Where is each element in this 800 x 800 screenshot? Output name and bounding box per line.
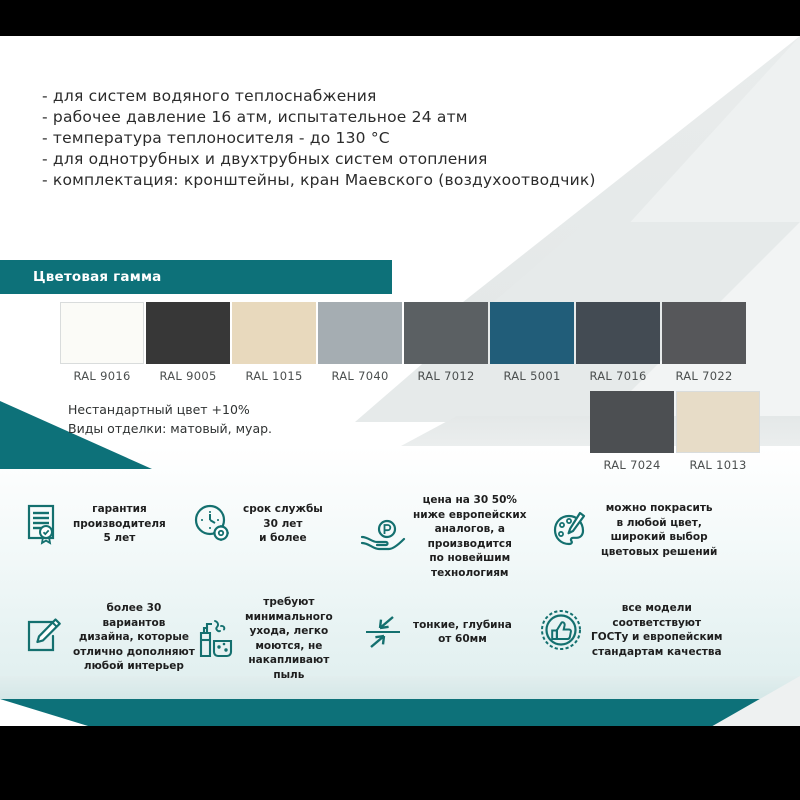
color-swatch[interactable]: RAL 9005	[146, 302, 230, 383]
feature-item-price: цена на 30 50% ниже европейских аналогов…	[360, 493, 550, 580]
feature-label: все модели соответствуют ГОСТу и европей…	[584, 601, 723, 659]
spec-line: - комплектация: кронштейны, кран Маевско…	[42, 170, 642, 191]
decorative-bottom-pale-strip	[0, 676, 800, 702]
note-line: Виды отделки: матовый, муар.	[68, 419, 272, 438]
color-swatch-code: RAL 9016	[60, 369, 144, 383]
feature-item-easy-clean: требуют минимального ухода, легко моются…	[192, 595, 372, 682]
palette-brush-icon	[548, 507, 594, 553]
spec-line: - температура теплоносителя - до 130 °C	[42, 128, 642, 149]
color-swatch-code: RAL 5001	[490, 369, 574, 383]
certificate-icon	[20, 501, 66, 547]
color-swatch-chip	[490, 302, 574, 364]
color-swatch[interactable]: RAL 7012	[404, 302, 488, 383]
color-swatch-chip	[146, 302, 230, 364]
finish-note: Нестандартный цвет +10% Виды отделки: ма…	[68, 400, 272, 438]
thin-arrows-icon	[360, 609, 406, 655]
color-swatch[interactable]: RAL 5001	[490, 302, 574, 383]
color-swatch-chip	[576, 302, 660, 364]
color-swatch-chip	[676, 391, 760, 453]
color-swatch-chip	[662, 302, 746, 364]
color-swatch-code: RAL 9005	[146, 369, 230, 383]
feature-item-certificate: гарантия производителя 5 лет	[20, 501, 200, 547]
color-swatch-chip	[318, 302, 402, 364]
feature-label: гарантия производителя 5 лет	[66, 502, 166, 546]
feature-item-paintable: можно покрасить в любой цвет, широкий вы…	[548, 501, 763, 559]
feature-item-standards: все модели соответствуют ГОСТу и европей…	[538, 601, 768, 659]
pencil-design-icon	[20, 614, 66, 660]
clock-gear-icon	[190, 501, 236, 547]
note-line: Нестандартный цвет +10%	[68, 400, 272, 419]
color-swatch[interactable]: RAL 7040	[318, 302, 402, 383]
feature-label: срок службы 30 лет и более	[236, 502, 323, 546]
feature-label: можно покрасить в любой цвет, широкий вы…	[594, 501, 717, 559]
spray-sponge-icon	[192, 616, 238, 662]
color-swatch[interactable]: RAL 1015	[232, 302, 316, 383]
spec-line: - для систем водяного теплоснабжения	[42, 86, 642, 107]
color-swatch[interactable]: RAL 7016	[576, 302, 660, 383]
color-swatch-code: RAL 7016	[576, 369, 660, 383]
color-swatch-chip	[404, 302, 488, 364]
feature-label: требуют минимального ухода, легко моются…	[238, 595, 333, 682]
color-gamma-title: Цветовая гамма	[33, 269, 162, 285]
feature-label: тонкие, глубина от 60мм	[406, 618, 512, 647]
color-swatch[interactable]: RAL 7022	[662, 302, 746, 383]
color-swatch-code: RAL 7012	[404, 369, 488, 383]
spec-line: - для однотрубных и двухтрубных систем о…	[42, 149, 642, 170]
feature-item-lifespan: срок службы 30 лет и более	[190, 501, 370, 547]
feature-label: цена на 30 50% ниже европейских аналогов…	[406, 493, 527, 580]
color-gamma-header: Цветовая гамма	[0, 260, 392, 294]
color-swatch-code: RAL 1015	[232, 369, 316, 383]
specs-list: - для систем водяного теплоснабжения - р…	[42, 86, 642, 191]
slide-body: - для систем водяного теплоснабжения - р…	[0, 36, 800, 726]
color-swatch-chip	[232, 302, 316, 364]
spec-line: - рабочее давление 16 атм, испытательное…	[42, 107, 642, 128]
color-swatch-code: RAL 7040	[318, 369, 402, 383]
thumbs-up-badge-icon	[538, 607, 584, 653]
color-swatch-code: RAL 7024	[590, 458, 674, 472]
feature-label: более 30 вариантов дизайна, которые отли…	[66, 601, 195, 674]
feature-item-slim: тонкие, глубина от 60мм	[360, 609, 535, 655]
slide-canvas: - для систем водяного теплоснабжения - р…	[0, 0, 800, 800]
color-swatch[interactable]: RAL 7024	[590, 391, 674, 472]
color-swatch-chip	[590, 391, 674, 453]
color-swatch-code: RAL 7022	[662, 369, 746, 383]
color-swatch[interactable]: RAL 1013	[676, 391, 760, 472]
color-swatch[interactable]: RAL 9016	[60, 302, 144, 383]
decorative-bottom-teal-band	[0, 699, 800, 726]
color-swatch-code: RAL 1013	[676, 458, 760, 472]
color-swatch-chip	[60, 302, 144, 364]
feature-item-designs: более 30 вариантов дизайна, которые отли…	[20, 601, 205, 674]
hand-ruble-icon	[360, 514, 406, 560]
